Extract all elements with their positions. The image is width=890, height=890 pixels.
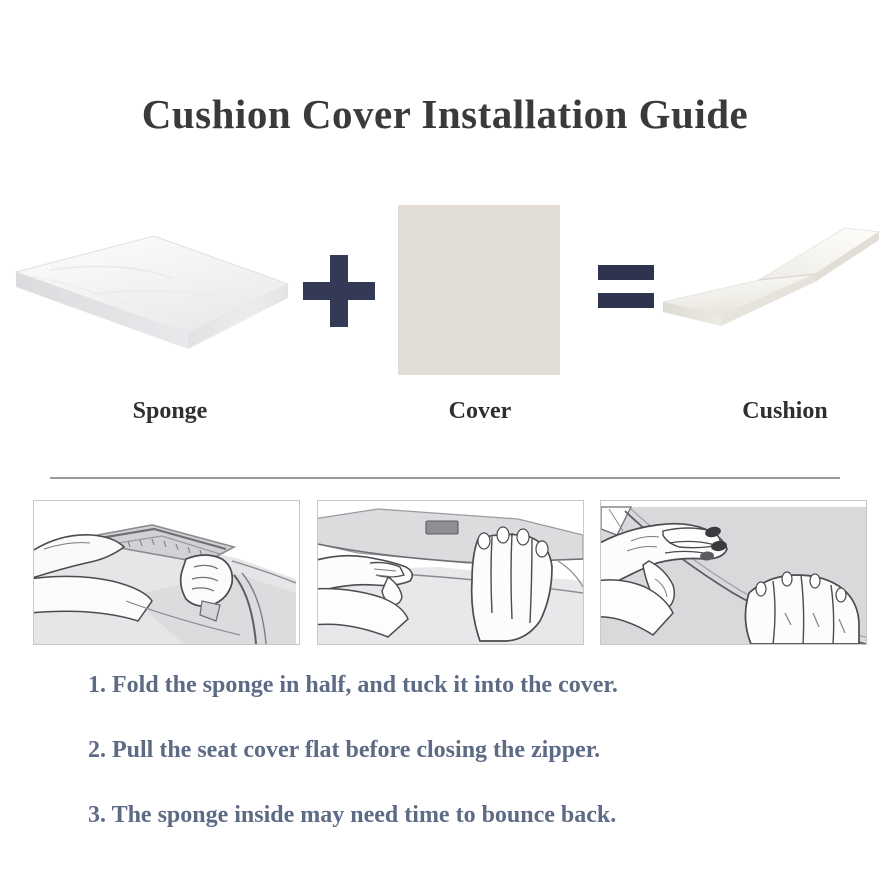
section-divider [50, 477, 840, 479]
label-sponge: Sponge [60, 398, 280, 425]
equals-operator-icon [598, 265, 654, 311]
label-cushion: Cushion [680, 398, 890, 425]
installation-guide-page: Cushion Cover Installation Guide [0, 0, 890, 890]
step-panel-2 [317, 500, 584, 645]
product-equation-row [0, 185, 890, 395]
plus-vertical-bar [330, 255, 348, 327]
sponge-image [2, 230, 292, 355]
plus-operator-icon [303, 255, 375, 327]
instruction-line-3: 3. The sponge inside may need time to bo… [88, 802, 868, 829]
step-panel-3 [600, 500, 867, 645]
label-cover: Cover [380, 398, 580, 425]
equals-top-bar [598, 265, 654, 280]
product-labels-row: Sponge Cover Cushion [0, 398, 890, 438]
step-panel-1 [33, 500, 300, 645]
instruction-line-1: 1. Fold the sponge in half, and tuck it … [88, 672, 868, 699]
cushion-image [655, 220, 887, 330]
step-panels-row [0, 500, 890, 648]
page-title: Cushion Cover Installation Guide [0, 90, 890, 138]
equals-bottom-bar [598, 293, 654, 308]
cover-image [398, 205, 560, 375]
instruction-line-2: 2. Pull the seat cover flat before closi… [88, 737, 868, 764]
